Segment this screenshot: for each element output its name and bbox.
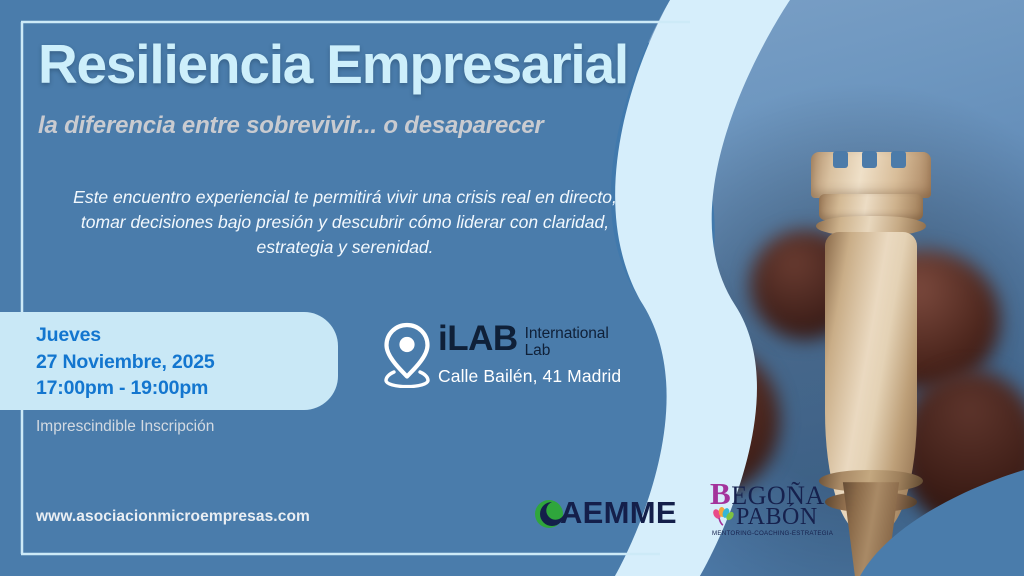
event-day: Jueves [36,322,215,349]
chess-rook-piece [805,152,937,576]
aemme-logo: AEMME [534,492,694,536]
location-pin-icon [382,322,432,388]
rook-crenel [891,151,906,168]
aemme-wordmark: AEMME [560,495,677,531]
lead-paragraph: Este encuentro experiencial te permitirá… [60,185,630,260]
venue-block: iLAB International Lab Calle Bailén, 41 … [382,320,652,400]
venue-address: Calle Bailén, 41 Madrid [438,366,621,387]
registration-notice: Imprescindible Inscripción [36,418,214,436]
venue-brand-name: iLAB [438,322,518,356]
begona-tagline: MENTORING-COACHING-ESTRATEGIA [712,530,833,537]
page-subtitle: la diferencia entre sobrevivir... o desa… [38,112,544,140]
pabon-line2: PABÓN [736,505,818,529]
venue-brand: iLAB International Lab [438,322,609,359]
rook-base [839,482,903,576]
begona-pabon-logo: BEGOÑA PABÓN MENTORING-COACHING-ESTRATEG… [706,478,824,542]
event-time: 17:00pm - 19:00pm [36,375,215,402]
page-title: Resiliencia Empresarial [38,36,628,94]
flower-icon [711,506,735,526]
venue-brand-subtitle: International Lab [525,322,609,359]
event-date-text: Jueves 27 Noviembre, 2025 17:00pm - 19:0… [36,322,215,402]
website-url[interactable]: www.asociacionmicroempresas.com [36,508,310,526]
rook-crenel [833,151,848,168]
event-date: 27 Noviembre, 2025 [36,349,215,376]
rook-crenel [862,151,877,168]
venue-brand-sub-line2: Lab [525,342,551,359]
venue-brand-sub-line1: International [525,325,609,342]
promo-banner: Resiliencia Empresarial la diferencia en… [0,0,1024,576]
